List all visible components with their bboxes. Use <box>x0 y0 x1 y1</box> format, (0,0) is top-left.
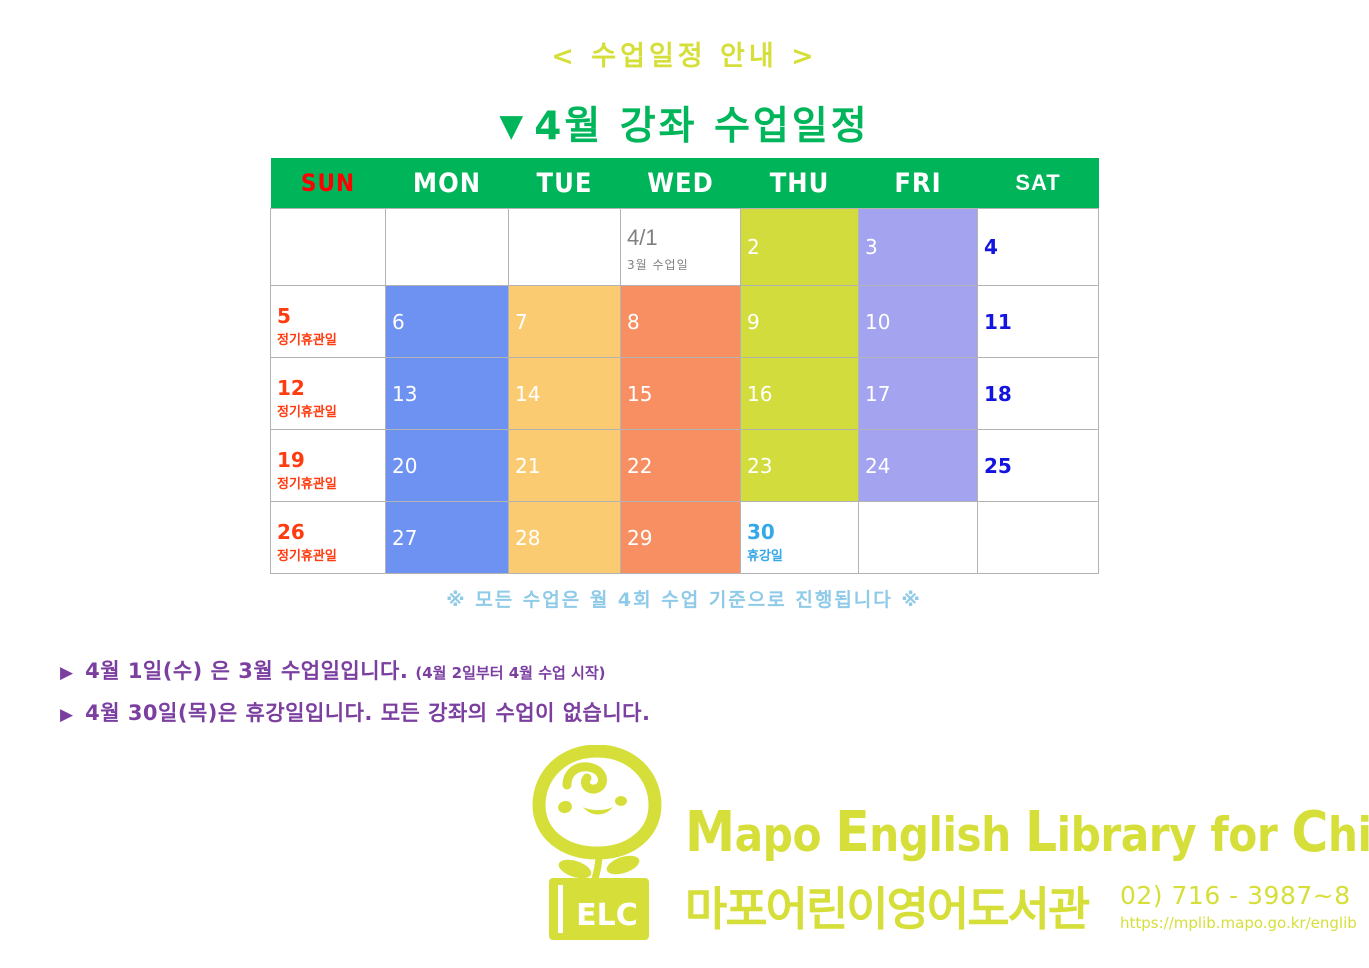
calendar-cell-empty <box>271 209 386 286</box>
calendar-cell-apr-20: 20 <box>386 430 509 502</box>
day-note: 3월 수업일 <box>627 259 689 271</box>
weekday-header-sun: SUN <box>271 158 386 209</box>
calendar-cell-apr-8: 8 <box>621 286 741 358</box>
calendar-cell-apr-24: 24 <box>859 430 978 502</box>
weekday-header-thu: THU <box>741 158 859 209</box>
calendar-cell-apr-25: 25 <box>978 430 1099 502</box>
day-number: 9 <box>747 312 760 332</box>
day-number: 8 <box>627 312 640 332</box>
calendar-cell-apr-30: 30 휴강일 <box>741 502 859 574</box>
calendar-cell-apr-18: 18 <box>978 358 1099 430</box>
phone-number: 02) 716 - 3987~8 <box>1120 881 1357 910</box>
day-number: 13 <box>392 384 417 404</box>
calendar-cell-apr-6: 6 <box>386 286 509 358</box>
notes-list: ▶ 4월 1일(수) 은 3월 수업일입니다. (4월 2일부터 4월 수업 시… <box>60 655 1060 739</box>
weekday-header-tue: TUE <box>509 158 621 209</box>
weekday-header-mon: MON <box>386 158 509 209</box>
calendar-cell-apr-27: 27 <box>386 502 509 574</box>
weekday-header-sat: SAT <box>978 158 1099 209</box>
footer-logo-block: ELC Mapo English Library for Children 마포… <box>525 745 1360 960</box>
calendar-cell-apr-4: 4 <box>978 209 1099 286</box>
day-number: 22 <box>627 456 652 476</box>
calendar-footnote: ※ 모든 수업은 월 4회 수업 기준으로 진행됩니다 ※ <box>270 585 1098 612</box>
note-item: ▶ 4월 1일(수) 은 3월 수업일입니다. (4월 2일부터 4월 수업 시… <box>60 655 1060 685</box>
day-number: 15 <box>627 384 652 404</box>
calendar-week-row: 4/1 3월 수업일 2 3 4 <box>271 209 1099 286</box>
day-number: 16 <box>747 384 772 404</box>
calendar-cell-apr-19: 19 정기휴관일 <box>271 430 386 502</box>
note-main-text: 4월 1일(수) 은 3월 수업일입니다. <box>85 655 408 685</box>
calendar-cell-apr-1: 4/1 3월 수업일 <box>621 209 741 286</box>
day-number: 29 <box>627 528 652 548</box>
calendar-cell-apr-10: 10 <box>859 286 978 358</box>
elc-logo-text: ELC <box>576 898 638 933</box>
page-title: ▼4월 강좌 수업일정 <box>0 95 1369 151</box>
calendar-cell-apr-11: 11 <box>978 286 1099 358</box>
day-number: 18 <box>984 384 1012 404</box>
day-number: 17 <box>865 384 890 404</box>
day-number: 27 <box>392 528 417 548</box>
page-subtitle: < 수업일정 안내 > <box>0 34 1369 73</box>
triangle-down-icon: ▼ <box>499 108 526 144</box>
day-number: 14 <box>515 384 540 404</box>
website-url[interactable]: https://mplib.mapo.go.kr/englib <box>1120 914 1357 932</box>
day-number: 28 <box>515 528 540 548</box>
day-number: 10 <box>865 312 890 332</box>
calendar-cell-apr-13: 13 <box>386 358 509 430</box>
day-number: 26 <box>277 522 305 542</box>
day-note: 정기휴관일 <box>277 550 337 563</box>
calendar-week-row: 12 정기휴관일 13 14 15 16 17 18 <box>271 358 1099 430</box>
day-note: 정기휴관일 <box>277 478 337 491</box>
elc-sprout-logo-icon: ELC <box>525 745 670 945</box>
day-number: 6 <box>392 312 405 332</box>
calendar-cell-apr-12: 12 정기휴관일 <box>271 358 386 430</box>
calendar-cell-apr-5: 5 정기휴관일 <box>271 286 386 358</box>
calendar-cell-apr-9: 9 <box>741 286 859 358</box>
calendar-cell-apr-22: 22 <box>621 430 741 502</box>
triangle-right-icon: ▶ <box>60 665 73 682</box>
calendar-cell-apr-7: 7 <box>509 286 621 358</box>
calendar-cell-apr-17: 17 <box>859 358 978 430</box>
day-number: 3 <box>865 237 878 257</box>
page-title-text: 4월 강좌 수업일정 <box>534 104 869 149</box>
day-number: 7 <box>515 312 528 332</box>
calendar-week-row: 5 정기휴관일 6 7 8 9 10 11 <box>271 286 1099 358</box>
calendar-week-row: 19 정기휴관일 20 21 22 23 24 25 <box>271 430 1099 502</box>
day-number: 19 <box>277 450 305 470</box>
day-number: 30 <box>747 522 775 542</box>
calendar-cell-apr-28: 28 <box>509 502 621 574</box>
weekday-header-fri: FRI <box>859 158 978 209</box>
calendar-cell-apr-16: 16 <box>741 358 859 430</box>
calendar-cell-apr-23: 23 <box>741 430 859 502</box>
note-item: ▶ 4월 30일(목)은 휴강일입니다. 모든 강좌의 수업이 없습니다. <box>60 697 1060 727</box>
brand-name-korean: 마포어린이영어도서관 <box>685 873 1088 939</box>
calendar-cell-empty <box>859 502 978 574</box>
note-main-text: 4월 30일(목)은 휴강일입니다. 모든 강좌의 수업이 없습니다. <box>85 697 650 727</box>
day-number: 5 <box>277 306 291 326</box>
weekday-header-wed: WED <box>621 158 741 209</box>
day-number: 4 <box>984 237 998 257</box>
day-number: 4/1 <box>627 227 658 249</box>
calendar-cell-apr-26: 26 정기휴관일 <box>271 502 386 574</box>
class-schedule-calendar: SUN MON TUE WED THU FRI SAT 4/1 3월 수업일 2 <box>270 158 1099 574</box>
calendar-week-row: 26 정기휴관일 27 28 29 30 휴강일 <box>271 502 1099 574</box>
calendar-cell-apr-15: 15 <box>621 358 741 430</box>
calendar-header-row: SUN MON TUE WED THU FRI SAT <box>271 158 1099 209</box>
calendar-cell-apr-21: 21 <box>509 430 621 502</box>
day-note: 정기휴관일 <box>277 334 337 347</box>
day-number: 25 <box>984 456 1012 476</box>
calendar-cell-empty <box>509 209 621 286</box>
calendar-cell-empty <box>978 502 1099 574</box>
day-number: 12 <box>277 378 305 398</box>
calendar-cell-apr-3: 3 <box>859 209 978 286</box>
note-sub-text: (4월 2일부터 4월 수업 시작) <box>415 662 605 683</box>
calendar-cell-apr-14: 14 <box>509 358 621 430</box>
triangle-right-icon: ▶ <box>60 707 73 724</box>
day-number: 2 <box>747 237 760 257</box>
day-number: 11 <box>984 312 1012 332</box>
calendar-cell-apr-2: 2 <box>741 209 859 286</box>
brand-name-english: Mapo English Library for Children <box>685 800 1369 865</box>
day-number: 20 <box>392 456 417 476</box>
day-number: 21 <box>515 456 540 476</box>
contact-info: 02) 716 - 3987~8 https://mplib.mapo.go.k… <box>1120 881 1357 932</box>
calendar-cell-empty <box>386 209 509 286</box>
day-note: 휴강일 <box>747 550 783 563</box>
calendar-cell-apr-29: 29 <box>621 502 741 574</box>
day-note: 정기휴관일 <box>277 406 337 419</box>
day-number: 24 <box>865 456 890 476</box>
day-number: 23 <box>747 456 772 476</box>
